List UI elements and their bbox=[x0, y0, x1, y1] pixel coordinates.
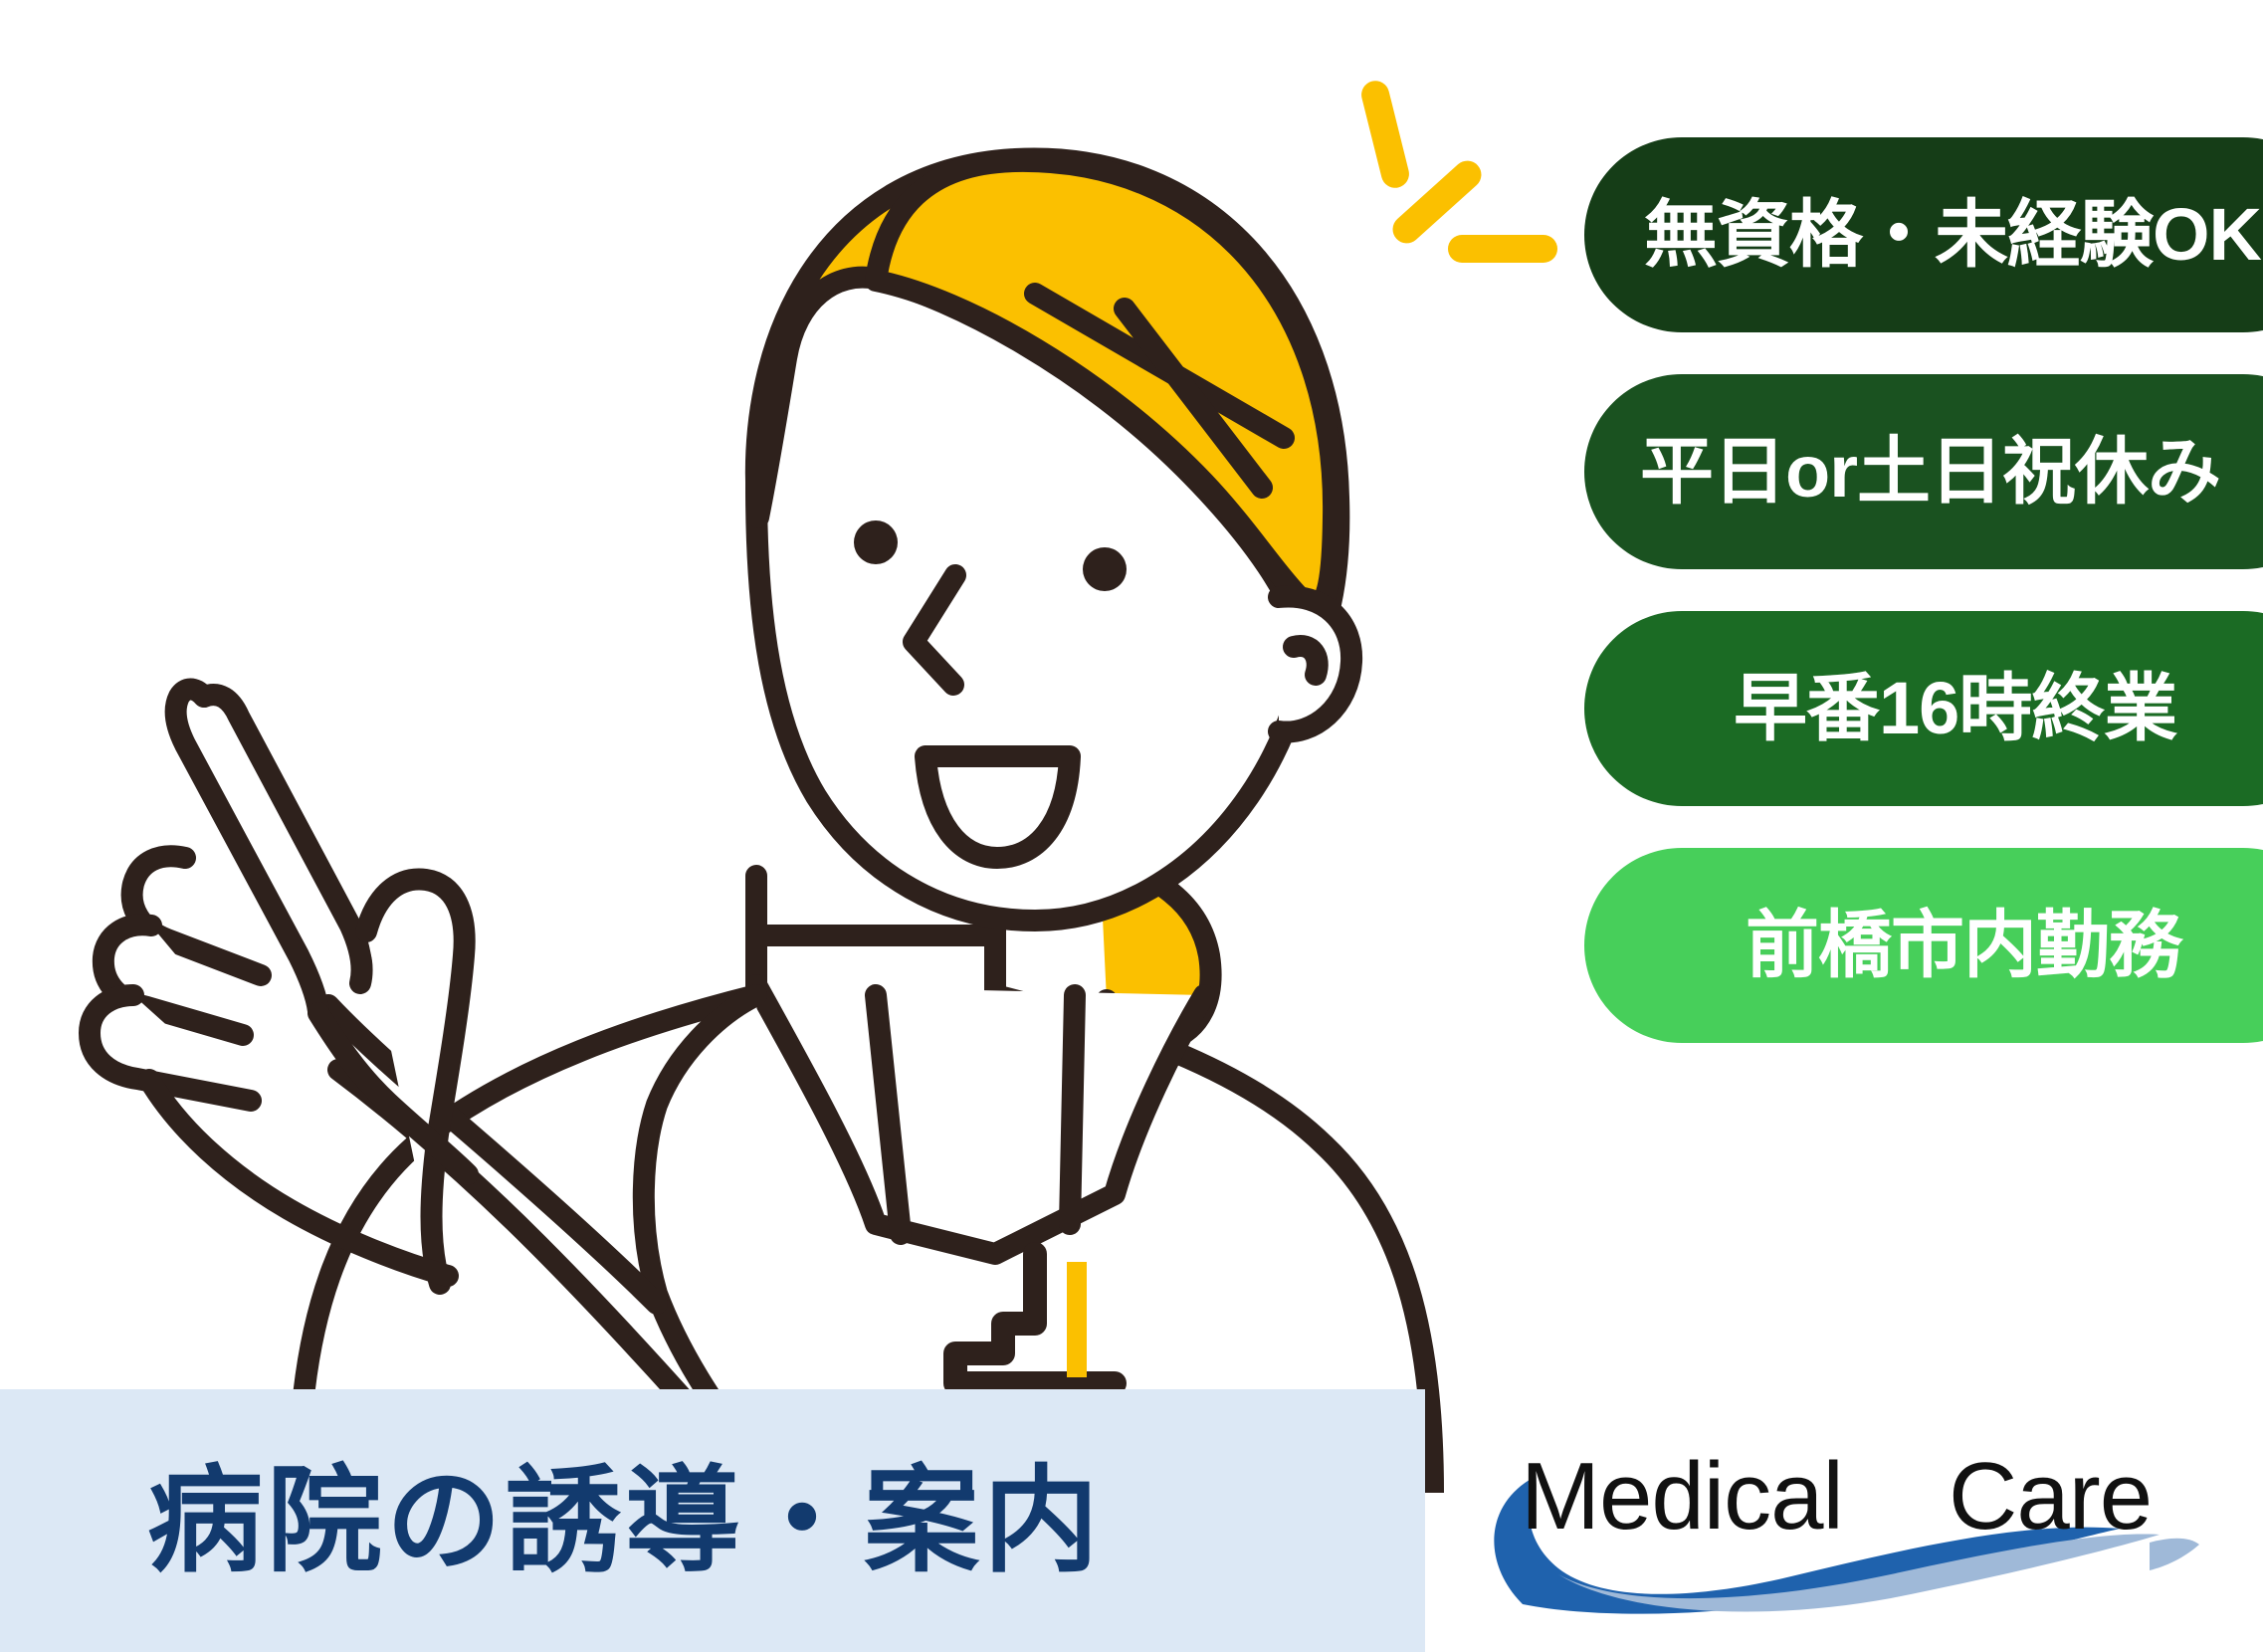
badge-label: 平日or土日祝休み bbox=[1584, 435, 2220, 509]
mouth bbox=[926, 756, 1070, 858]
title-band: 病院の誘導・案内 bbox=[0, 1389, 1425, 1652]
logo-swoosh-tip bbox=[2150, 1539, 2199, 1570]
badge-label: 前橋市内勤務 bbox=[1584, 909, 2181, 982]
eye-left bbox=[854, 520, 898, 564]
staff-illustration bbox=[0, 0, 1493, 1493]
badge-work-location[interactable]: 前橋市内勤務 bbox=[1584, 848, 2263, 1043]
highlight-badge-list: 無資格・未経験OK 平日or土日祝休み 早番16時終業 前橋市内勤務 bbox=[1584, 137, 2263, 1085]
badge-no-qualification[interactable]: 無資格・未経験OK bbox=[1584, 137, 2263, 332]
logo-word-one: Medical bbox=[1521, 1443, 1843, 1549]
sparkle-icon-3 bbox=[1448, 235, 1557, 263]
sparkle-group bbox=[1324, 50, 1602, 309]
job-ad-poster: 無資格・未経験OK 平日or土日祝休み 早番16時終業 前橋市内勤務 病院の誘導… bbox=[0, 0, 2263, 1652]
page-title: 病院の誘導・案内 bbox=[0, 1463, 1103, 1578]
eye-right bbox=[1083, 547, 1127, 591]
badge-days-off[interactable]: 平日or土日祝休み bbox=[1584, 374, 2263, 569]
sparkle-icon-1 bbox=[1358, 78, 1412, 191]
logo-word-two: Care bbox=[1949, 1443, 2152, 1549]
badge-early-shift[interactable]: 早番16時終業 bbox=[1584, 611, 2263, 806]
badge-label: 早番16時終業 bbox=[1584, 672, 2176, 745]
medical-care-logo: Medical Care bbox=[1463, 1425, 2239, 1624]
badge-label: 無資格・未経験OK bbox=[1584, 198, 2261, 272]
pen-yellow bbox=[1067, 1262, 1087, 1377]
